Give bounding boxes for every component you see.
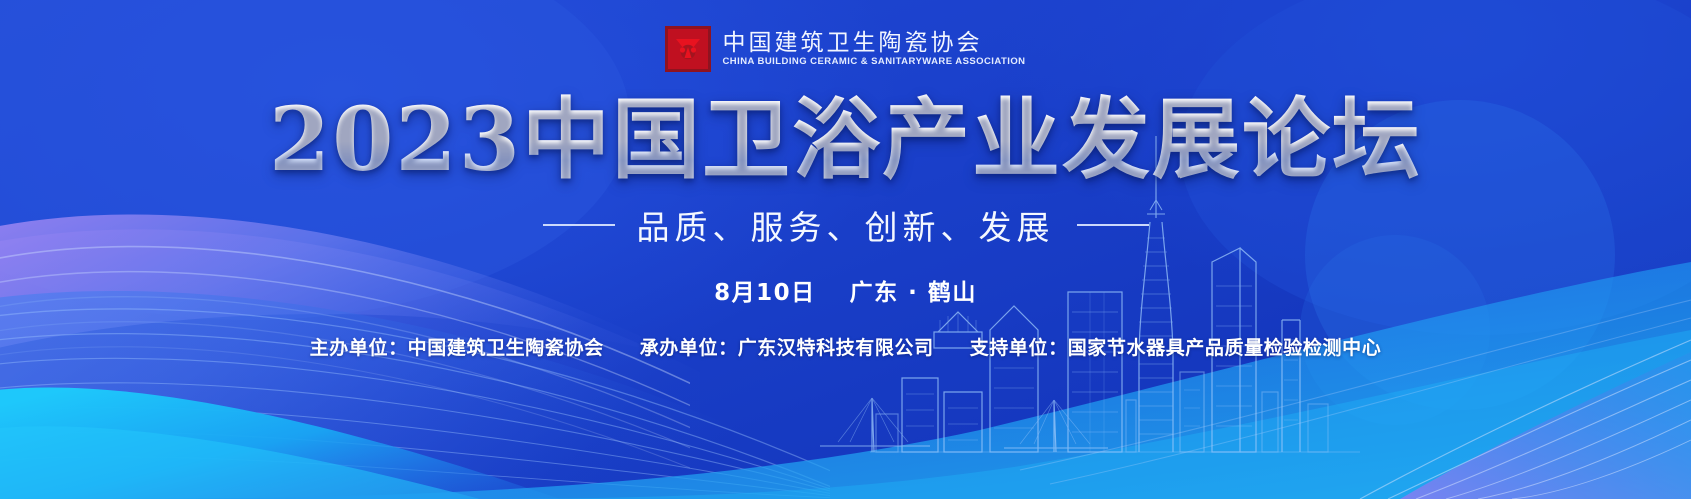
organizer-supporter: 支持单位：国家节水器具产品质量检验检测中心 [970, 333, 1382, 360]
event-location: 广东 · 鹤山 [850, 273, 977, 307]
subtitle-row: 品质、服务、创新、发展 [543, 201, 1149, 249]
event-datebar: 8月10日 广东 · 鹤山 [714, 273, 977, 307]
association-name-en: CHINA BUILDING CERAMIC & SANITARYWARE AS… [722, 57, 1025, 67]
banner-content: 中国建筑卫生陶瓷协会 CHINA BUILDING CERAMIC & SANI… [0, 0, 1691, 499]
cbcsa-emblem-icon [665, 26, 711, 72]
organizer-host: 主办单位：中国建筑卫生陶瓷协会 [310, 333, 604, 360]
organizer-bar: 主办单位：中国建筑卫生陶瓷协会 承办单位：广东汉特科技有限公司 支持单位：国家节… [310, 333, 1382, 360]
event-date: 8月10日 [714, 273, 816, 307]
association-name-cn: 中国建筑卫生陶瓷协会 [722, 31, 1025, 55]
subtitle-rule-left [543, 224, 615, 226]
page-title: 2023中国卫浴产业发展论坛 [269, 92, 1422, 187]
event-banner: 中国建筑卫生陶瓷协会 CHINA BUILDING CERAMIC & SANI… [0, 0, 1691, 499]
subtitle-rule-right [1077, 224, 1149, 226]
association-logo-text: 中国建筑卫生陶瓷协会 CHINA BUILDING CERAMIC & SANI… [722, 31, 1025, 67]
organizer-executor: 承办单位：广东汉特科技有限公司 [640, 333, 934, 360]
association-logo: 中国建筑卫生陶瓷协会 CHINA BUILDING CERAMIC & SANI… [665, 26, 1025, 72]
subtitle-text: 品质、服务、创新、发展 [637, 201, 1055, 249]
